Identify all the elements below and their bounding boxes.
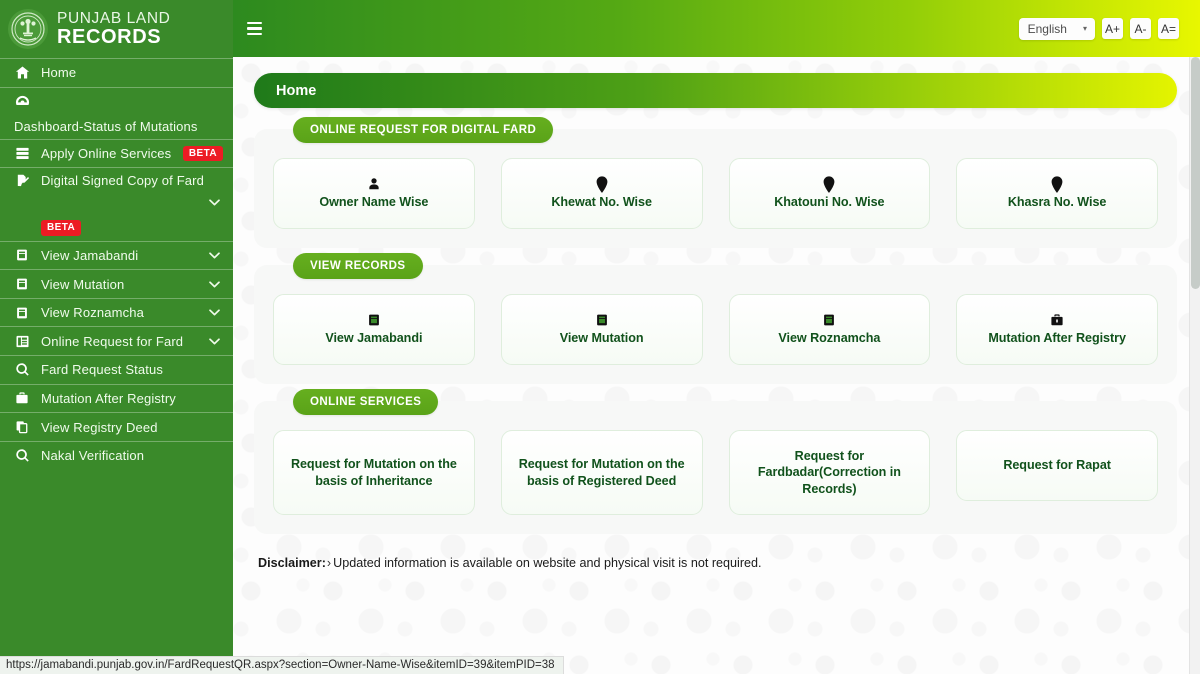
- sidebar-item-label: View Roznamcha: [41, 305, 198, 320]
- card-grid: Request for Mutation on the basis of Inh…: [273, 430, 1158, 515]
- sidebar-item-view-roznamcha[interactable]: View Roznamcha: [0, 298, 233, 327]
- search-icon: [14, 362, 30, 377]
- card-mutation-after-registry[interactable]: Mutation After Registry: [956, 294, 1158, 365]
- card-label: Khewat No. Wise: [551, 194, 652, 210]
- card-label: Request for Rapat: [1003, 457, 1111, 473]
- disclaimer-label: Disclaimer:: [258, 556, 326, 570]
- card-owner-name-wise[interactable]: Owner Name Wise: [273, 158, 475, 229]
- map-pin-icon: [596, 176, 608, 192]
- chevron-down-icon[interactable]: [209, 252, 223, 259]
- status-bar-url: https://jamabandi.punjab.gov.in/FardRequ…: [0, 656, 564, 674]
- font-reset-button[interactable]: A=: [1158, 18, 1179, 39]
- briefcase-icon: [14, 391, 30, 405]
- language-select[interactable]: English ▾: [1019, 18, 1095, 40]
- sidebar-item-digital-signed-copy-of-fard[interactable]: Digital Signed Copy of FardBETA: [0, 167, 233, 241]
- book-icon: [14, 277, 30, 291]
- card-grid: Owner Name WiseKhewat No. WiseKhatouni N…: [273, 158, 1158, 229]
- section-title-pill: ONLINE SERVICES: [293, 389, 438, 415]
- search-icon: [14, 448, 30, 463]
- breadcrumb: Home: [254, 73, 1177, 108]
- map-pin-icon: [1051, 176, 1063, 192]
- font-increase-button[interactable]: A+: [1102, 18, 1123, 39]
- sidebar: PUNJAB LAND RECORDS HomeDashboard-Status…: [0, 0, 233, 674]
- card-khatouni-no-wise[interactable]: Khatouni No. Wise: [729, 158, 931, 229]
- sidebar-item-home[interactable]: Home: [0, 58, 233, 87]
- sections-container: ONLINE REQUEST FOR DIGITAL FARDOwner Nam…: [254, 129, 1177, 534]
- ashoka-emblem-icon: [8, 9, 48, 49]
- sidebar-item-view-jamabandi[interactable]: View Jamabandi: [0, 241, 233, 270]
- card-view-mutation[interactable]: View Mutation: [501, 294, 703, 365]
- chevron-down-icon[interactable]: [209, 199, 223, 206]
- sidebar-nav: HomeDashboard-Status of MutationsApply O…: [0, 58, 233, 469]
- card-label: Owner Name Wise: [319, 194, 428, 210]
- sidebar-item-label: View Jamabandi: [41, 248, 198, 263]
- briefcase-icon: [1050, 312, 1064, 328]
- topbar-controls: English ▾ A+ A- A=: [1019, 18, 1200, 40]
- sidebar-item-label: Fard Request Status: [41, 362, 223, 377]
- dashboard-gauge-icon: [14, 93, 30, 108]
- sidebar-item-label: Apply Online Services: [41, 146, 172, 161]
- chevron-down-icon[interactable]: [209, 309, 223, 316]
- scrollbar-thumb[interactable]: [1191, 57, 1200, 289]
- signed-document-icon: [14, 173, 30, 188]
- section-online-services: ONLINE SERVICESRequest for Mutation on t…: [254, 401, 1177, 534]
- server-stack-icon: [14, 146, 30, 161]
- chevron-down-icon[interactable]: [209, 281, 223, 288]
- card-khasra-no-wise[interactable]: Khasra No. Wise: [956, 158, 1158, 229]
- section-online-request-for-digital-fard: ONLINE REQUEST FOR DIGITAL FARDOwner Nam…: [254, 129, 1177, 248]
- book-icon: [14, 306, 30, 320]
- book-icon: [367, 312, 381, 328]
- disclaimer-text: Updated information is available on webs…: [333, 556, 761, 570]
- chevron-down-icon: ▾: [1083, 24, 1087, 33]
- section-view-records: VIEW RECORDSView JamabandiView MutationV…: [254, 265, 1177, 384]
- sidebar-item-label: Dashboard-Status of Mutations: [14, 119, 223, 134]
- home-icon: [14, 65, 30, 80]
- brand-line-2: RECORDS: [57, 27, 170, 47]
- card-label: Khatouni No. Wise: [774, 194, 884, 210]
- ledger-icon: [14, 334, 30, 349]
- language-select-value: English: [1028, 22, 1067, 36]
- sidebar-item-view-mutation[interactable]: View Mutation: [0, 269, 233, 298]
- main-area: English ▾ A+ A- A= Home ONLINE REQUEST F…: [233, 0, 1200, 674]
- sidebar-item-label: Digital Signed Copy of Fard: [41, 173, 223, 188]
- topbar: English ▾ A+ A- A=: [233, 0, 1200, 57]
- sidebar-item-nakal-verification[interactable]: Nakal Verification: [0, 441, 233, 470]
- beta-badge: BETA: [41, 220, 81, 236]
- copy-document-icon: [14, 420, 30, 434]
- sidebar-item-mutation-after-registry[interactable]: Mutation After Registry: [0, 384, 233, 413]
- sidebar-item-label: Online Request for Fard: [41, 334, 198, 349]
- page-title: Home: [276, 83, 316, 99]
- card-label: Request for Mutation on the basis of Inh…: [284, 456, 464, 489]
- section-title-pill: ONLINE REQUEST FOR DIGITAL FARD: [293, 117, 553, 143]
- card-view-roznamcha[interactable]: View Roznamcha: [729, 294, 931, 365]
- card-grid: View JamabandiView MutationView Roznamch…: [273, 294, 1158, 365]
- content-area: Home ONLINE REQUEST FOR DIGITAL FARDOwne…: [233, 57, 1200, 674]
- book-icon: [14, 248, 30, 262]
- card-request-for-fardbadar-correction-in-records[interactable]: Request for Fardbadar(Correction in Reco…: [729, 430, 931, 515]
- sidebar-item-label: Home: [41, 65, 223, 80]
- card-request-for-mutation-on-the-basis-of-registe[interactable]: Request for Mutation on the basis of Reg…: [501, 430, 703, 515]
- font-decrease-button[interactable]: A-: [1130, 18, 1151, 39]
- chevron-down-icon[interactable]: [209, 338, 223, 345]
- sidebar-item-online-request-for-fard[interactable]: Online Request for Fard: [0, 326, 233, 355]
- book-icon: [595, 312, 609, 328]
- sidebar-item-apply-online-services[interactable]: Apply Online ServicesBETA: [0, 139, 233, 168]
- card-request-for-rapat[interactable]: Request for Rapat: [956, 430, 1158, 501]
- map-pin-icon: [823, 176, 835, 192]
- sidebar-item-view-registry-deed[interactable]: View Registry Deed: [0, 412, 233, 441]
- card-khewat-no-wise[interactable]: Khewat No. Wise: [501, 158, 703, 229]
- vertical-scrollbar[interactable]: [1189, 57, 1200, 674]
- card-label: Request for Fardbadar(Correction in Reco…: [740, 448, 920, 497]
- brand-line-1: PUNJAB LAND: [57, 11, 170, 27]
- card-view-jamabandi[interactable]: View Jamabandi: [273, 294, 475, 365]
- hamburger-icon[interactable]: [237, 12, 271, 46]
- card-label: View Jamabandi: [325, 330, 422, 346]
- card-label: Request for Mutation on the basis of Reg…: [512, 456, 692, 489]
- sidebar-item-label: Mutation After Registry: [41, 391, 223, 406]
- sidebar-item-label: View Mutation: [41, 277, 198, 292]
- brand-header[interactable]: PUNJAB LAND RECORDS: [0, 0, 233, 57]
- person-icon: [367, 176, 381, 192]
- beta-badge: BETA: [183, 146, 223, 162]
- card-request-for-mutation-on-the-basis-of-inherit[interactable]: Request for Mutation on the basis of Inh…: [273, 430, 475, 515]
- sidebar-item-label: View Registry Deed: [41, 420, 223, 435]
- card-label: View Mutation: [560, 330, 644, 346]
- card-label: View Roznamcha: [778, 330, 880, 346]
- sidebar-item-fard-request-status[interactable]: Fard Request Status: [0, 355, 233, 384]
- sidebar-item-dashboard-status-of-mutations[interactable]: Dashboard-Status of Mutations: [0, 87, 233, 139]
- card-label: Mutation After Registry: [988, 330, 1126, 346]
- card-label: Khasra No. Wise: [1008, 194, 1107, 210]
- disclaimer: Disclaimer:›Updated information is avail…: [254, 551, 1177, 573]
- sidebar-item-label: Nakal Verification: [41, 448, 223, 463]
- book-icon: [822, 312, 836, 328]
- page-root: PUNJAB LAND RECORDS HomeDashboard-Status…: [0, 0, 1200, 674]
- section-title-pill: VIEW RECORDS: [293, 253, 423, 279]
